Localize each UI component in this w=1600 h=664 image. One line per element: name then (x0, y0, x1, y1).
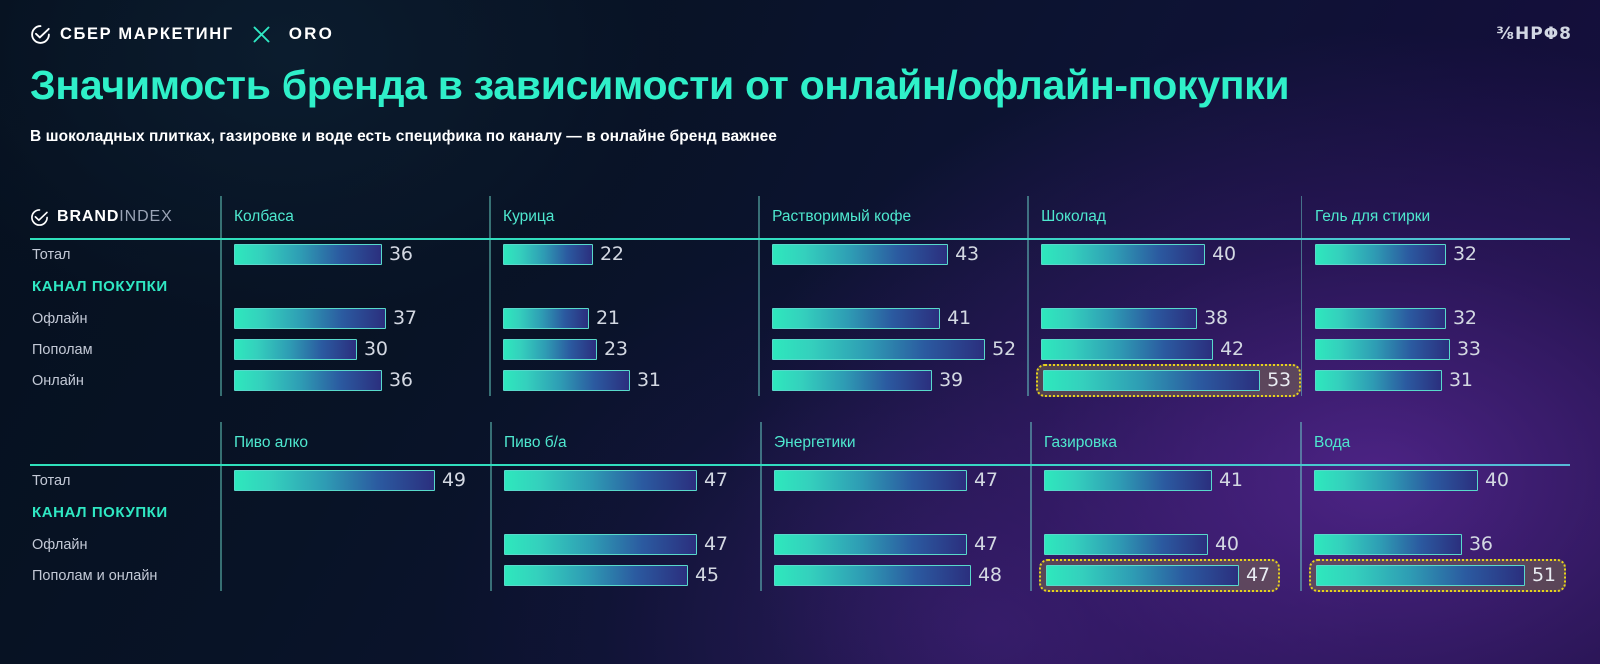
check-circle-icon (30, 24, 51, 45)
x-cross-icon (251, 24, 272, 45)
table-row: 36 (234, 239, 489, 270)
bar (1041, 339, 1213, 360)
section-label-channel: КАНАЛ ПОКУПКИ (30, 270, 220, 303)
bar-cell[interactable]: 36 (234, 365, 413, 396)
bar-cell[interactable]: 33 (1315, 334, 1481, 365)
bar-cell[interactable]: 21 (503, 303, 620, 334)
bar-cell[interactable]: 37 (234, 303, 417, 334)
slide-root: СБЕР МАРКЕТИНГ ORO ⅜HPΦ8 Значимость брен… (0, 0, 1600, 664)
sber-marketing-label: СБЕР МАРКЕТИНГ (60, 25, 234, 44)
row-label-column: BRANDINDEX Тотал КАНАЛ ПОКУПКИ Офлайн По… (30, 196, 220, 396)
bar-cell[interactable]: 31 (1315, 365, 1473, 396)
bar (234, 470, 435, 491)
bar-cell[interactable]: 40 (1314, 465, 1509, 496)
table-row: 41 (1044, 465, 1300, 496)
table-row: 31 (1315, 365, 1570, 396)
column-rows: 403651 (1314, 465, 1570, 591)
bar-value-label: 47 (974, 471, 998, 490)
bar-value-label: 33 (1457, 340, 1481, 359)
data-block-2: Тотал КАНАЛ ПОКУПКИ Офлайн Пополам и онл… (30, 422, 1570, 591)
bar (234, 244, 382, 265)
bar (1041, 244, 1205, 265)
bar-cell[interactable]: 52 (772, 334, 1016, 365)
section-spacer (774, 496, 1030, 529)
bar (772, 244, 948, 265)
section-label-channel: КАНАЛ ПОКУПКИ (30, 496, 220, 529)
column-energetiki: Энергетики474748 (760, 422, 1030, 591)
data-block-1: BRANDINDEX Тотал КАНАЛ ПОКУПКИ Офлайн По… (30, 196, 1570, 396)
bar-cell[interactable]: 45 (504, 560, 719, 591)
table-row: 45 (504, 560, 760, 591)
bar-value-label: 45 (695, 566, 719, 585)
bar-value-label: 51 (1532, 566, 1556, 585)
bar-cell[interactable]: 38 (1041, 303, 1228, 334)
table-row: 30 (234, 334, 489, 365)
bar (1046, 565, 1239, 586)
table-row: 40 (1314, 465, 1570, 496)
bar (774, 565, 971, 586)
bar (234, 370, 382, 391)
bar-value-label: 36 (389, 371, 413, 390)
table-row: 41 (772, 303, 1027, 334)
column-title: Шоколад (1041, 196, 1301, 238)
column-title: Гель для стирки (1315, 196, 1570, 238)
bar-value-label: 36 (389, 245, 413, 264)
top-bar: СБЕР МАРКЕТИНГ ORO ⅜HPΦ8 (30, 18, 1572, 50)
column-rows: 32323331 (1315, 239, 1570, 396)
table-row: 47 (504, 529, 760, 560)
bar (1315, 308, 1446, 329)
table-row: 21 (503, 303, 758, 334)
bar (772, 308, 940, 329)
table-row: 31 (503, 365, 758, 396)
brand-lockup: СБЕР МАРКЕТИНГ ORO (30, 24, 334, 45)
bar-cell[interactable]: 49 (234, 465, 466, 496)
bar (1315, 339, 1450, 360)
bar-value-label: 49 (442, 471, 466, 490)
table-row: 33 (1315, 334, 1570, 365)
block-1-grid: BRANDINDEX Тотал КАНАЛ ПОКУПКИ Офлайн По… (30, 196, 1570, 396)
bar (1044, 470, 1212, 491)
bar (504, 470, 697, 491)
bar-value-label: 30 (364, 340, 388, 359)
bar-cell-highlighted[interactable]: 51 (1309, 559, 1566, 592)
bar-cell[interactable]: 36 (1314, 529, 1493, 560)
bar-cell[interactable]: 41 (772, 303, 971, 334)
table-row: 36 (234, 365, 489, 396)
table-row: 47 (774, 465, 1030, 496)
bar-cell[interactable]: 43 (772, 239, 979, 270)
bar (234, 308, 386, 329)
table-row: 47 (504, 465, 760, 496)
header-divider (30, 238, 1570, 240)
bar-value-label: 22 (600, 245, 624, 264)
bar-value-label: 47 (974, 535, 998, 554)
row-label-offline: Офлайн (30, 303, 220, 334)
section-spacer (1314, 496, 1570, 529)
table-row: 49 (234, 465, 490, 496)
bar-value-label: 32 (1453, 245, 1477, 264)
bar-cell-highlighted[interactable]: 53 (1036, 364, 1301, 397)
page-title: Значимость бренда в зависимости от онлай… (30, 62, 1289, 109)
section-spacer (234, 496, 490, 529)
column-pivo-ba: Пиво б/а474745 (490, 422, 760, 591)
table-row: 32 (1315, 303, 1570, 334)
page-subtitle: В шоколадных плитках, газировке и воде е… (30, 128, 777, 146)
column-rows: 49 (234, 465, 490, 591)
bar-value-label: 38 (1204, 309, 1228, 328)
bar-cell[interactable]: 40 (1044, 529, 1239, 560)
row-label-total: Тотал (30, 465, 220, 496)
section-spacer (1041, 270, 1301, 303)
row-label-half: Пополам (30, 334, 220, 365)
corner-logo: ⅜HPΦ8 (1496, 24, 1572, 44)
column-title: Курица (503, 196, 758, 238)
bar-value-label: 21 (596, 309, 620, 328)
bar-cell[interactable]: 32 (1315, 239, 1477, 270)
bar (774, 470, 967, 491)
table-row: 36 (1314, 529, 1570, 560)
bar (772, 339, 985, 360)
table-row: 40 (1041, 239, 1301, 270)
bar (1041, 308, 1197, 329)
bar-value-label: 42 (1220, 340, 1244, 359)
bar-value-label: 39 (939, 371, 963, 390)
column-title: Пиво алко (234, 422, 490, 464)
bar (1316, 565, 1525, 586)
row-label-half-and-online: Пополам и онлайн (30, 560, 220, 591)
table-row: 52 (772, 334, 1027, 365)
column-title: Газировка (1044, 422, 1300, 464)
table-row: 38 (1041, 303, 1301, 334)
bar (772, 370, 932, 391)
bar-value-label: 41 (1219, 471, 1243, 490)
bar-cell[interactable]: 42 (1041, 334, 1244, 365)
column-gel-dlya-stirki: Гель для стирки32323331 (1301, 196, 1570, 396)
bar (1314, 534, 1462, 555)
table-row: 37 (234, 303, 489, 334)
column-rows: 40384253 (1041, 239, 1301, 396)
oro-label: ORO (289, 24, 334, 44)
bar (504, 565, 688, 586)
column-rows: 36373036 (234, 239, 489, 396)
column-rastvorimyy-kofe: Растворимый кофе43415239 (758, 196, 1027, 396)
bar (1044, 534, 1208, 555)
column-rows: 474748 (774, 465, 1030, 591)
bar-cell[interactable]: 36 (234, 239, 413, 270)
bar-value-label: 36 (1469, 535, 1493, 554)
bar-cell[interactable]: 23 (503, 334, 628, 365)
table-row: 47 (774, 529, 1030, 560)
table-row: 43 (772, 239, 1027, 270)
section-spacer (504, 496, 760, 529)
bar-cell[interactable]: 47 (774, 529, 998, 560)
column-rows: 43415239 (772, 239, 1027, 396)
table-row (234, 529, 490, 560)
brandindex-label: BRANDINDEX (57, 208, 173, 226)
column-pivo-alko: Пиво алко49 (220, 422, 490, 591)
bar-cell[interactable]: 22 (503, 239, 624, 270)
section-spacer (234, 270, 489, 303)
table-row: 40 (1044, 529, 1300, 560)
column-rows: 414047 (1044, 465, 1300, 591)
sber-marketing-logo: СБЕР МАРКЕТИНГ (30, 24, 234, 45)
bar-value-label: 41 (947, 309, 971, 328)
row-label-total: Тотал (30, 239, 220, 270)
column-shokolad: Шоколад40384253 (1027, 196, 1301, 396)
bar-cell[interactable]: 40 (1041, 239, 1236, 270)
bar-cell[interactable]: 31 (503, 365, 661, 396)
column-kolbasa: Колбаса36373036 (220, 196, 489, 396)
block-2-grid: Тотал КАНАЛ ПОКУПКИ Офлайн Пополам и онл… (30, 422, 1570, 591)
bar (504, 534, 697, 555)
column-kuritsa: Курица22212331 (489, 196, 758, 396)
bar (503, 370, 630, 391)
table-row: 39 (772, 365, 1027, 396)
section-spacer (1044, 496, 1300, 529)
brandindex-logo: BRANDINDEX (30, 196, 220, 238)
bar-value-label: 47 (704, 535, 728, 554)
bar-cell[interactable]: 47 (774, 465, 998, 496)
column-rows: 22212331 (503, 239, 758, 396)
bar-value-label: 43 (955, 245, 979, 264)
column-rows: 474745 (504, 465, 760, 591)
column-title: Колбаса (234, 196, 489, 238)
bar-value-label: 31 (1449, 371, 1473, 390)
bar-value-label: 52 (992, 340, 1016, 359)
row-label-online: Онлайн (30, 365, 220, 396)
bar (503, 308, 589, 329)
bar (1314, 470, 1478, 491)
bar-cell[interactable]: 47 (504, 465, 728, 496)
column-title: Пиво б/а (504, 422, 760, 464)
bar-value-label: 40 (1215, 535, 1239, 554)
table-row: 42 (1041, 334, 1301, 365)
bar-value-label: 53 (1267, 371, 1291, 390)
bar (774, 534, 967, 555)
bar-value-label: 32 (1453, 309, 1477, 328)
block-1-row-labels: Тотал КАНАЛ ПОКУПКИ Офлайн Пополам Онлай… (30, 239, 220, 396)
bar-cell[interactable]: 48 (774, 560, 1002, 591)
table-row: 53 (1041, 365, 1301, 396)
column-title: Энергетики (774, 422, 1030, 464)
row-label-offline: Офлайн (30, 529, 220, 560)
bar-cell-highlighted[interactable]: 47 (1039, 559, 1280, 592)
bar (1315, 370, 1442, 391)
bar-value-label: 31 (637, 371, 661, 390)
bar-value-label: 40 (1485, 471, 1509, 490)
bar (503, 339, 597, 360)
table-row: 51 (1314, 560, 1570, 591)
header-divider (30, 464, 1570, 466)
bar-value-label: 47 (704, 471, 728, 490)
bar-value-label: 23 (604, 340, 628, 359)
bar (1315, 244, 1446, 265)
bar (1043, 370, 1260, 391)
bar-cell[interactable]: 30 (234, 334, 388, 365)
check-circle-icon (30, 208, 49, 227)
row-label-column: Тотал КАНАЛ ПОКУПКИ Офлайн Пополам и онл… (30, 422, 220, 591)
bar-cell[interactable]: 39 (772, 365, 963, 396)
column-gazirovka: Газировка414047 (1030, 422, 1300, 591)
table-row: 22 (503, 239, 758, 270)
section-spacer (772, 270, 1027, 303)
table-row: 48 (774, 560, 1030, 591)
column-title: Растворимый кофе (772, 196, 1027, 238)
bar-value-label: 48 (978, 566, 1002, 585)
column-voda: Вода403651 (1300, 422, 1570, 591)
block-2-label-header (30, 422, 220, 464)
bar-value-label: 47 (1246, 566, 1270, 585)
bar (503, 244, 593, 265)
bar-cell[interactable]: 41 (1044, 465, 1243, 496)
section-spacer (503, 270, 758, 303)
block-2-row-labels: Тотал КАНАЛ ПОКУПКИ Офлайн Пополам и онл… (30, 465, 220, 591)
bar (234, 339, 357, 360)
column-title: Вода (1314, 422, 1570, 464)
bar-cell[interactable]: 47 (504, 529, 728, 560)
bar-cell[interactable]: 32 (1315, 303, 1477, 334)
table-row: 32 (1315, 239, 1570, 270)
bar-value-label: 40 (1212, 245, 1236, 264)
table-row: 47 (1044, 560, 1300, 591)
section-spacer (1315, 270, 1570, 303)
table-row (234, 560, 490, 591)
bar-value-label: 37 (393, 309, 417, 328)
table-row: 23 (503, 334, 758, 365)
